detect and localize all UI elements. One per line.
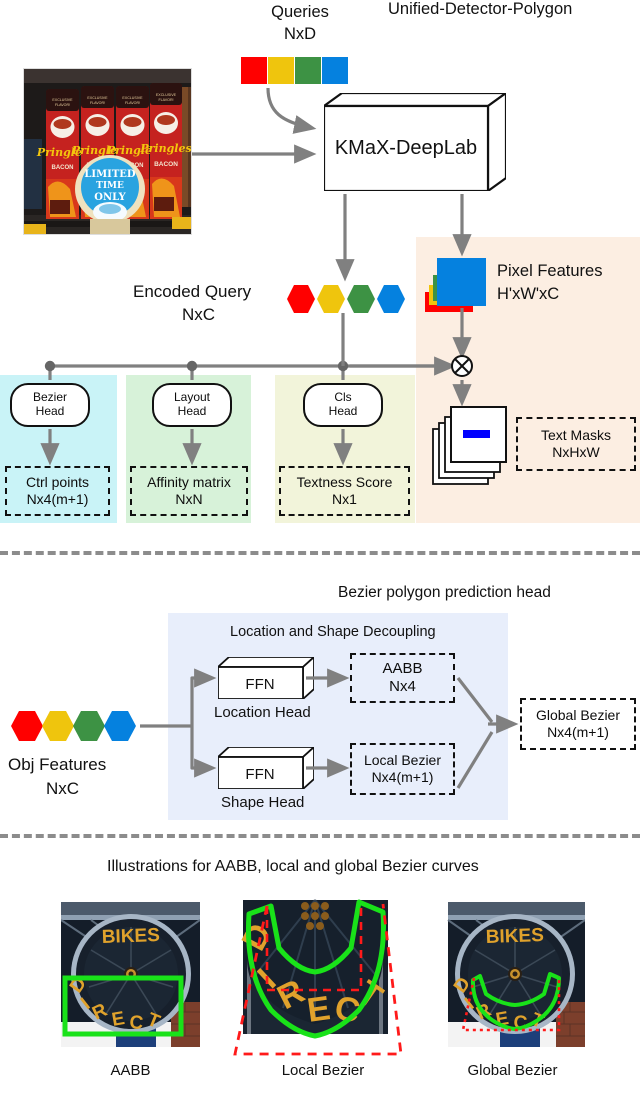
local-bezier-caption: Local Bezier (233, 1062, 413, 1079)
section3-title: Illustrations for AABB, local and global… (107, 858, 479, 876)
global-bezier-caption: Global Bezier (440, 1062, 585, 1079)
global-bezier-illustration: BIKES D I R E C T (440, 902, 585, 1049)
section2-connectors (0, 560, 640, 828)
section-divider-1 (0, 551, 640, 555)
section1-connectors (0, 0, 640, 548)
aabb-illustration: BIKES D I R E C T (61, 902, 200, 1047)
svg-text:BIKES: BIKES (101, 925, 160, 948)
local-bezier-illustration: D I R E C T (233, 898, 413, 1056)
illustrations-section: Illustrations for AABB, local and global… (0, 840, 640, 1106)
svg-text:C: C (129, 1012, 145, 1034)
unified-detector-polygon-section: Unified-Detector-Polygon Queries NxD Pr (0, 0, 640, 548)
svg-text:BIKES: BIKES (485, 925, 544, 948)
bezier-polygon-prediction-head-section: Bezier polygon prediction head Location … (0, 560, 640, 828)
aabb-caption: AABB (61, 1062, 200, 1079)
section-divider-2 (0, 834, 640, 838)
multiply-operator (452, 356, 472, 376)
